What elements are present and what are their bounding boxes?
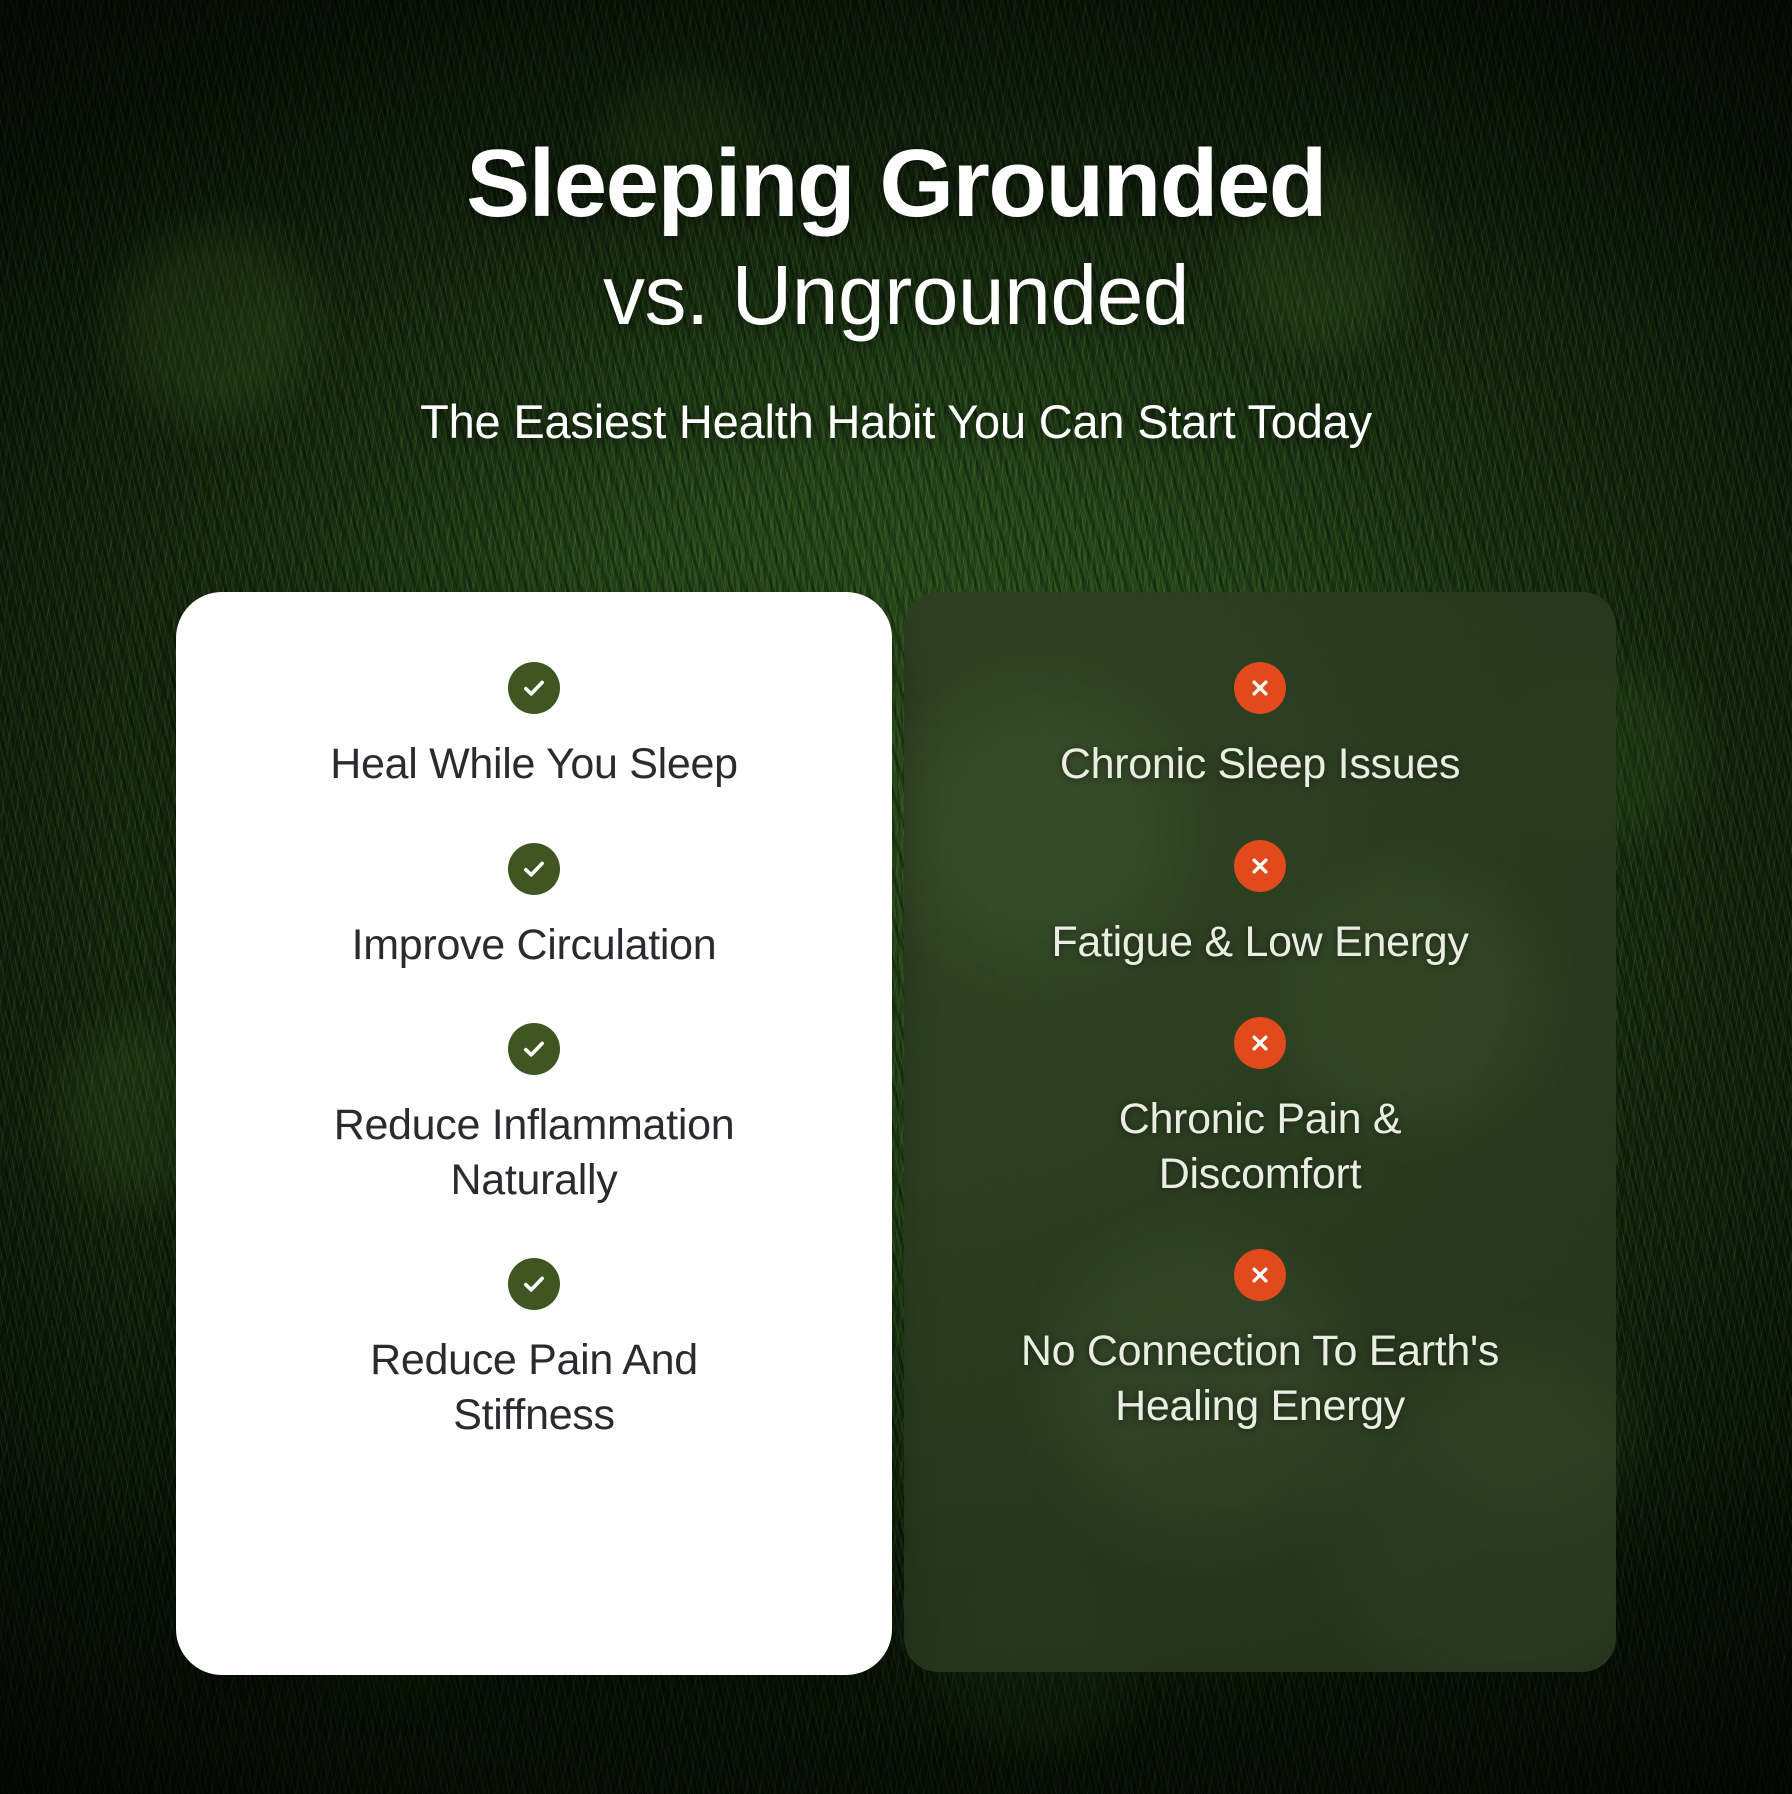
benefit-item: Heal While You Sleep [220, 662, 848, 792]
drawback-item: Chronic Pain & Discomfort [948, 1017, 1572, 1201]
x-circle-icon [1234, 1017, 1286, 1069]
check-circle-icon [508, 843, 560, 895]
x-circle-icon [1234, 662, 1286, 714]
drawback-item: No Connection To Earth's Healing Energy [948, 1249, 1572, 1433]
benefit-item: Reduce Inflammation Naturally [220, 1023, 848, 1207]
drawback-item-label: No Connection To Earth's Healing Energy [1021, 1324, 1499, 1433]
ungrounded-drawbacks-card: Chronic Sleep Issues Fatigue & Low Energ… [904, 592, 1616, 1672]
check-circle-icon [508, 1023, 560, 1075]
benefit-item-label: Reduce Inflammation Naturally [334, 1098, 735, 1207]
benefit-item: Improve Circulation [220, 843, 848, 973]
comparison-section: Heal While You Sleep Improve Circulation… [176, 592, 1616, 1712]
x-circle-icon [1234, 840, 1286, 892]
benefit-item-label: Heal While You Sleep [330, 737, 738, 792]
header-block: Sleeping Grounded vs. Ungrounded The Eas… [0, 0, 1792, 450]
benefit-item-label: Improve Circulation [352, 918, 717, 973]
check-circle-icon [508, 662, 560, 714]
infographic-canvas: Sleeping Grounded vs. Ungrounded The Eas… [0, 0, 1792, 1794]
drawback-item-label: Chronic Sleep Issues [1060, 737, 1460, 792]
benefit-item-label: Reduce Pain And Stiffness [370, 1333, 698, 1442]
drawback-item: Fatigue & Low Energy [948, 840, 1572, 970]
grounded-benefits-card: Heal While You Sleep Improve Circulation… [176, 592, 892, 1675]
check-circle-icon [508, 1258, 560, 1310]
drawback-item-label: Fatigue & Low Energy [1051, 915, 1468, 970]
x-circle-icon [1234, 1249, 1286, 1301]
drawback-item-label: Chronic Pain & Discomfort [1119, 1092, 1402, 1201]
drawback-item: Chronic Sleep Issues [948, 662, 1572, 792]
page-title-main: Sleeping Grounded [0, 136, 1792, 232]
benefit-item: Reduce Pain And Stiffness [220, 1258, 848, 1442]
page-title-sub: vs. Ungrounded [0, 242, 1792, 350]
page-tagline: The Easiest Health Habit You Can Start T… [0, 394, 1792, 450]
